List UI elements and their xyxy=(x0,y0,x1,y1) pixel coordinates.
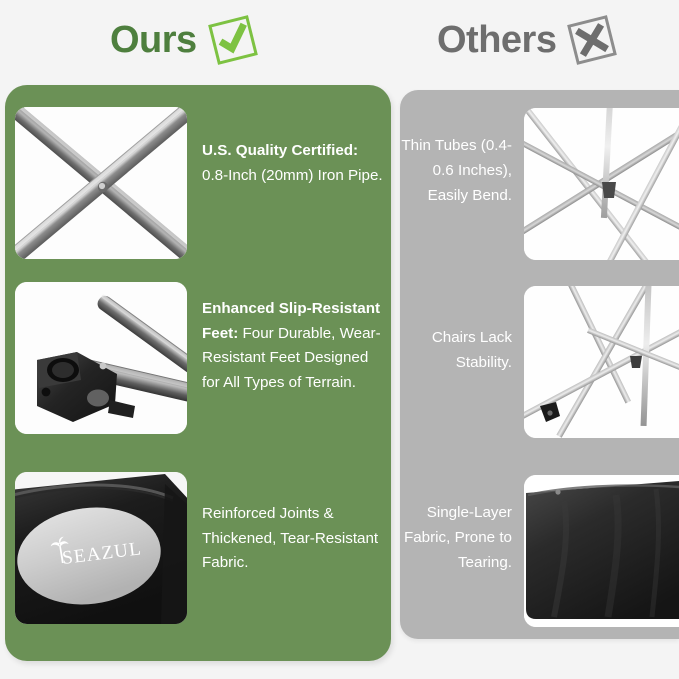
ours-feature-text: Reinforced Joints & Thickened, Tear-Resi… xyxy=(187,472,387,576)
ours-feature-row: Enhanced Slip-Resistant Feet: Four Durab… xyxy=(15,282,387,434)
others-header: Others xyxy=(437,14,618,66)
ours-feature-body: Reinforced Joints & Thickened, Tear-Resi… xyxy=(202,505,378,571)
others-feature-text: Chairs Lack Stability. xyxy=(400,286,524,376)
others-feature-text: Single-Layer Fabric, Prone to Tearing. xyxy=(400,475,524,576)
others-feature-row: Thin Tubes (0.4-0.6 Inches), Easily Bend… xyxy=(400,108,679,260)
ours-feature-lead: U.S. Quality Certified: xyxy=(202,142,358,159)
ours-panel: U.S. Quality Certified: 0.8-Inch (20mm) … xyxy=(5,85,391,661)
unstable-chair-legs-photo xyxy=(524,286,679,438)
others-feature-row: Single-Layer Fabric, Prone to Tearing. xyxy=(400,475,679,627)
others-title: Others xyxy=(437,21,556,59)
ours-feature-row: SEAZUL Reinforced Joints & Thickened, Te… xyxy=(15,472,387,624)
seazul-carry-bag-photo: SEAZUL xyxy=(15,472,187,624)
ours-feature-text: U.S. Quality Certified: 0.8-Inch (20mm) … xyxy=(187,107,387,188)
single-layer-black-bag-photo xyxy=(524,475,679,627)
ours-feature-row: U.S. Quality Certified: 0.8-Inch (20mm) … xyxy=(15,107,387,259)
cross-badge-icon xyxy=(566,14,618,66)
comparison-header: Ours Others xyxy=(0,0,679,85)
ours-header: Ours xyxy=(110,14,259,66)
others-panel: Thin Tubes (0.4-0.6 Inches), Easily Bend… xyxy=(400,90,679,639)
others-feature-row: Chairs Lack Stability. xyxy=(400,286,679,438)
ours-title: Ours xyxy=(110,21,197,59)
ours-feature-body: 0.8-Inch (20mm) Iron Pipe. xyxy=(202,167,383,184)
others-feature-text: Thin Tubes (0.4-0.6 Inches), Easily Bend… xyxy=(400,108,524,209)
thick-iron-pipe-crossbar-photo xyxy=(15,107,187,259)
slip-resistant-foot-photo xyxy=(15,282,187,434)
thin-tube-frame-photo xyxy=(524,108,679,260)
ours-feature-text: Enhanced Slip-Resistant Feet: Four Durab… xyxy=(187,282,387,396)
check-badge-icon xyxy=(207,14,259,66)
